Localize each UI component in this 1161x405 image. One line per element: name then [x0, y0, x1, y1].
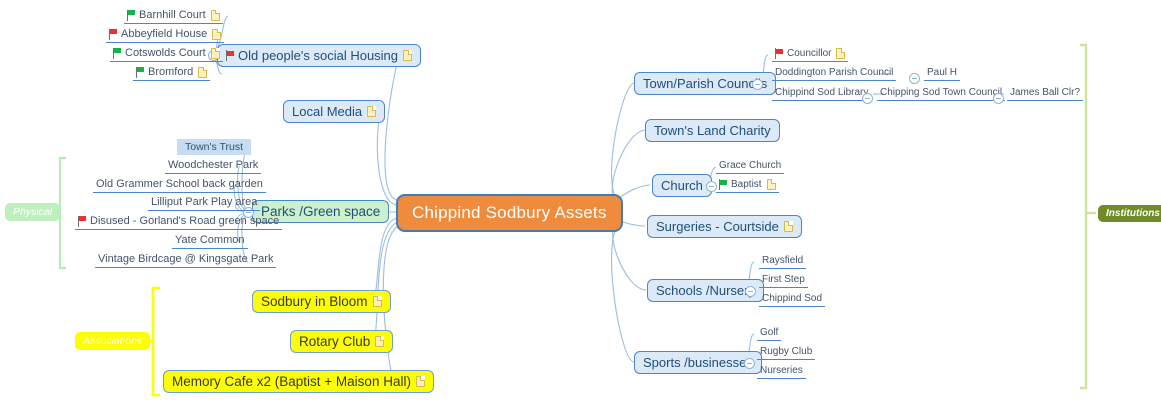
collapse-toggle-councils[interactable]	[752, 79, 763, 90]
note-icon	[375, 336, 384, 347]
note-icon	[211, 48, 220, 59]
node-sodbury-in-bloom[interactable]: Sodbury in Bloom	[252, 290, 391, 313]
leaf-bromford[interactable]: Bromford	[133, 66, 210, 81]
leaf-label: Baptist	[731, 179, 762, 190]
leaf-label: Disused - Gorland's Road green space	[90, 215, 279, 227]
leaf-label: Town's Trust	[185, 141, 243, 153]
red-flag-icon	[775, 48, 784, 59]
leaf-label: Chippind Sod Library	[775, 87, 868, 98]
red-flag-icon	[226, 50, 235, 61]
leaf-rugby-club[interactable]: Rugby Club	[757, 346, 815, 360]
center-node-label: Chippind Sodbury Assets	[412, 203, 607, 223]
node-church[interactable]: Church	[652, 174, 712, 197]
green-flag-icon	[136, 67, 145, 78]
node-rotary-club[interactable]: Rotary Club	[290, 330, 393, 353]
node-sports-businesses[interactable]: Sports /businesses	[634, 351, 762, 374]
leaf-lilliput-park-play-area[interactable]: Lilliput Park Play area	[148, 196, 260, 211]
note-icon	[373, 296, 382, 307]
leaf-label: Doddington Parish Council	[775, 67, 893, 78]
group-label-text: Physical	[13, 206, 52, 218]
note-icon	[416, 376, 425, 387]
leaf-abbeyfield-house[interactable]: Abbeyfield House	[106, 28, 224, 43]
note-icon	[198, 67, 207, 78]
node-local-media[interactable]: Local Media	[283, 100, 385, 123]
node-label: Town's Land Charity	[654, 123, 771, 138]
node-label: Local Media	[292, 104, 362, 119]
leaf-paul-h[interactable]: Paul H	[924, 67, 960, 81]
leaf-woodchester-park[interactable]: Woodchester Park	[165, 159, 261, 174]
leaf-label: James Ball Clr?	[1010, 87, 1080, 98]
note-icon	[767, 179, 776, 190]
leaf-label: Vintage Birdcage @ Kingsgate Park	[98, 253, 273, 265]
node-label: Memory Cafe x2 (Baptist + Maison Hall)	[172, 374, 411, 389]
leaf-yate-common[interactable]: Yate Common	[172, 234, 248, 249]
leaf-label: Old Grammer School back garden	[96, 178, 263, 190]
red-flag-icon	[109, 29, 118, 40]
leaf-james-ball-clr[interactable]: James Ball Clr?	[1007, 87, 1083, 101]
leaf-label: Chippind Sod	[762, 293, 822, 304]
leaf-raysfield[interactable]: Raysfield	[759, 255, 806, 269]
leaf-label: Rugby Club	[760, 346, 812, 357]
node-label: Sodbury in Bloom	[261, 294, 368, 309]
group-label-institutions[interactable]: Institutions	[1098, 205, 1161, 222]
node-label: Old people's social Housing	[238, 48, 398, 63]
red-flag-icon	[78, 216, 87, 227]
leaf-towns-trust[interactable]: Town's Trust	[177, 139, 251, 155]
center-node[interactable]: Chippind Sodbury Assets	[396, 194, 623, 232]
node-towns-land-charity[interactable]: Town's Land Charity	[645, 119, 780, 142]
leaf-label: First Step	[762, 274, 805, 285]
collapse-toggle-chippind-sod-library[interactable]	[862, 93, 873, 104]
green-flag-icon	[113, 48, 122, 59]
leaf-councillor[interactable]: Councillor	[772, 48, 848, 62]
leaf-baptist[interactable]: Baptist	[716, 179, 779, 193]
leaf-nurseries[interactable]: Nurseries	[757, 365, 806, 379]
leaf-label: Raysfield	[762, 255, 803, 266]
leaf-label: Golf	[760, 327, 778, 338]
leaf-label: Bromford	[148, 66, 193, 78]
green-flag-icon	[127, 10, 136, 21]
leaf-chipping-sod-town-council[interactable]: Chipping Sod Town Council	[877, 87, 1005, 101]
group-label-text: Institutions	[1106, 208, 1160, 219]
leaf-label: Chipping Sod Town Council	[880, 87, 1002, 98]
node-surgeries-courtside[interactable]: Surgeries - Courtside	[647, 215, 802, 238]
node-label: Schools /Nursery	[656, 283, 755, 298]
note-icon	[836, 48, 845, 59]
note-icon	[784, 221, 793, 232]
leaf-label: Yate Common	[175, 234, 245, 246]
green-flag-icon	[719, 179, 728, 190]
node-old-peoples-social-housing[interactable]: Old people's social Housing	[217, 44, 421, 67]
group-label-associations[interactable]: Associations	[75, 332, 150, 350]
note-icon	[212, 29, 221, 40]
collapse-toggle-doddington[interactable]	[909, 73, 920, 84]
leaf-label: Paul H	[927, 67, 957, 78]
leaf-cotswolds-court[interactable]: Cotswolds Court	[110, 47, 223, 62]
leaf-chippind-sod[interactable]: Chippind Sod	[759, 293, 825, 307]
mindmap-canvas: Chippind Sodbury Assets Old people's soc…	[0, 0, 1161, 405]
leaf-old-grammer-school-back-garden[interactable]: Old Grammer School back garden	[93, 178, 266, 193]
leaf-first-step[interactable]: First Step	[759, 274, 808, 288]
note-icon	[403, 50, 412, 61]
leaf-chippind-sod-library[interactable]: Chippind Sod Library	[772, 87, 871, 101]
leaf-grace-church[interactable]: Grace Church	[716, 160, 784, 174]
leaf-label: Cotswolds Court	[125, 47, 206, 59]
collapse-toggle-chipping-sod-town-council[interactable]	[993, 93, 1004, 104]
node-label: Town/Parish Councils	[643, 76, 767, 91]
leaf-golf[interactable]: Golf	[757, 327, 781, 341]
leaf-barnhill-court[interactable]: Barnhill Court	[124, 9, 223, 24]
collapse-toggle-sports[interactable]	[744, 358, 755, 369]
leaf-label: Nurseries	[760, 365, 803, 376]
leaf-doddington-parish-council[interactable]: Doddington Parish Council	[772, 67, 896, 81]
group-label-physical[interactable]: Physical	[5, 203, 60, 221]
node-label: Church	[661, 178, 703, 193]
leaf-label: Grace Church	[719, 160, 781, 171]
node-memory-cafe[interactable]: Memory Cafe x2 (Baptist + Maison Hall)	[163, 370, 434, 393]
leaf-disused-gorlands-road-green-space[interactable]: Disused - Gorland's Road green space	[75, 215, 282, 230]
leaf-label: Abbeyfield House	[121, 28, 207, 40]
node-label: Surgeries - Courtside	[656, 219, 779, 234]
note-icon	[211, 10, 220, 21]
node-label: Rotary Club	[299, 334, 370, 349]
leaf-label: Lilliput Park Play area	[151, 196, 257, 208]
leaf-vintage-birdcage-kingsgate-park[interactable]: Vintage Birdcage @ Kingsgate Park	[95, 253, 276, 268]
leaf-label: Woodchester Park	[168, 159, 258, 171]
node-label: Sports /businesses	[643, 355, 753, 370]
leaf-label: Councillor	[787, 48, 831, 59]
collapse-toggle-schools[interactable]	[745, 286, 756, 297]
group-label-text: Associations	[83, 335, 142, 347]
note-icon	[367, 106, 376, 117]
leaf-label: Barnhill Court	[139, 9, 206, 21]
